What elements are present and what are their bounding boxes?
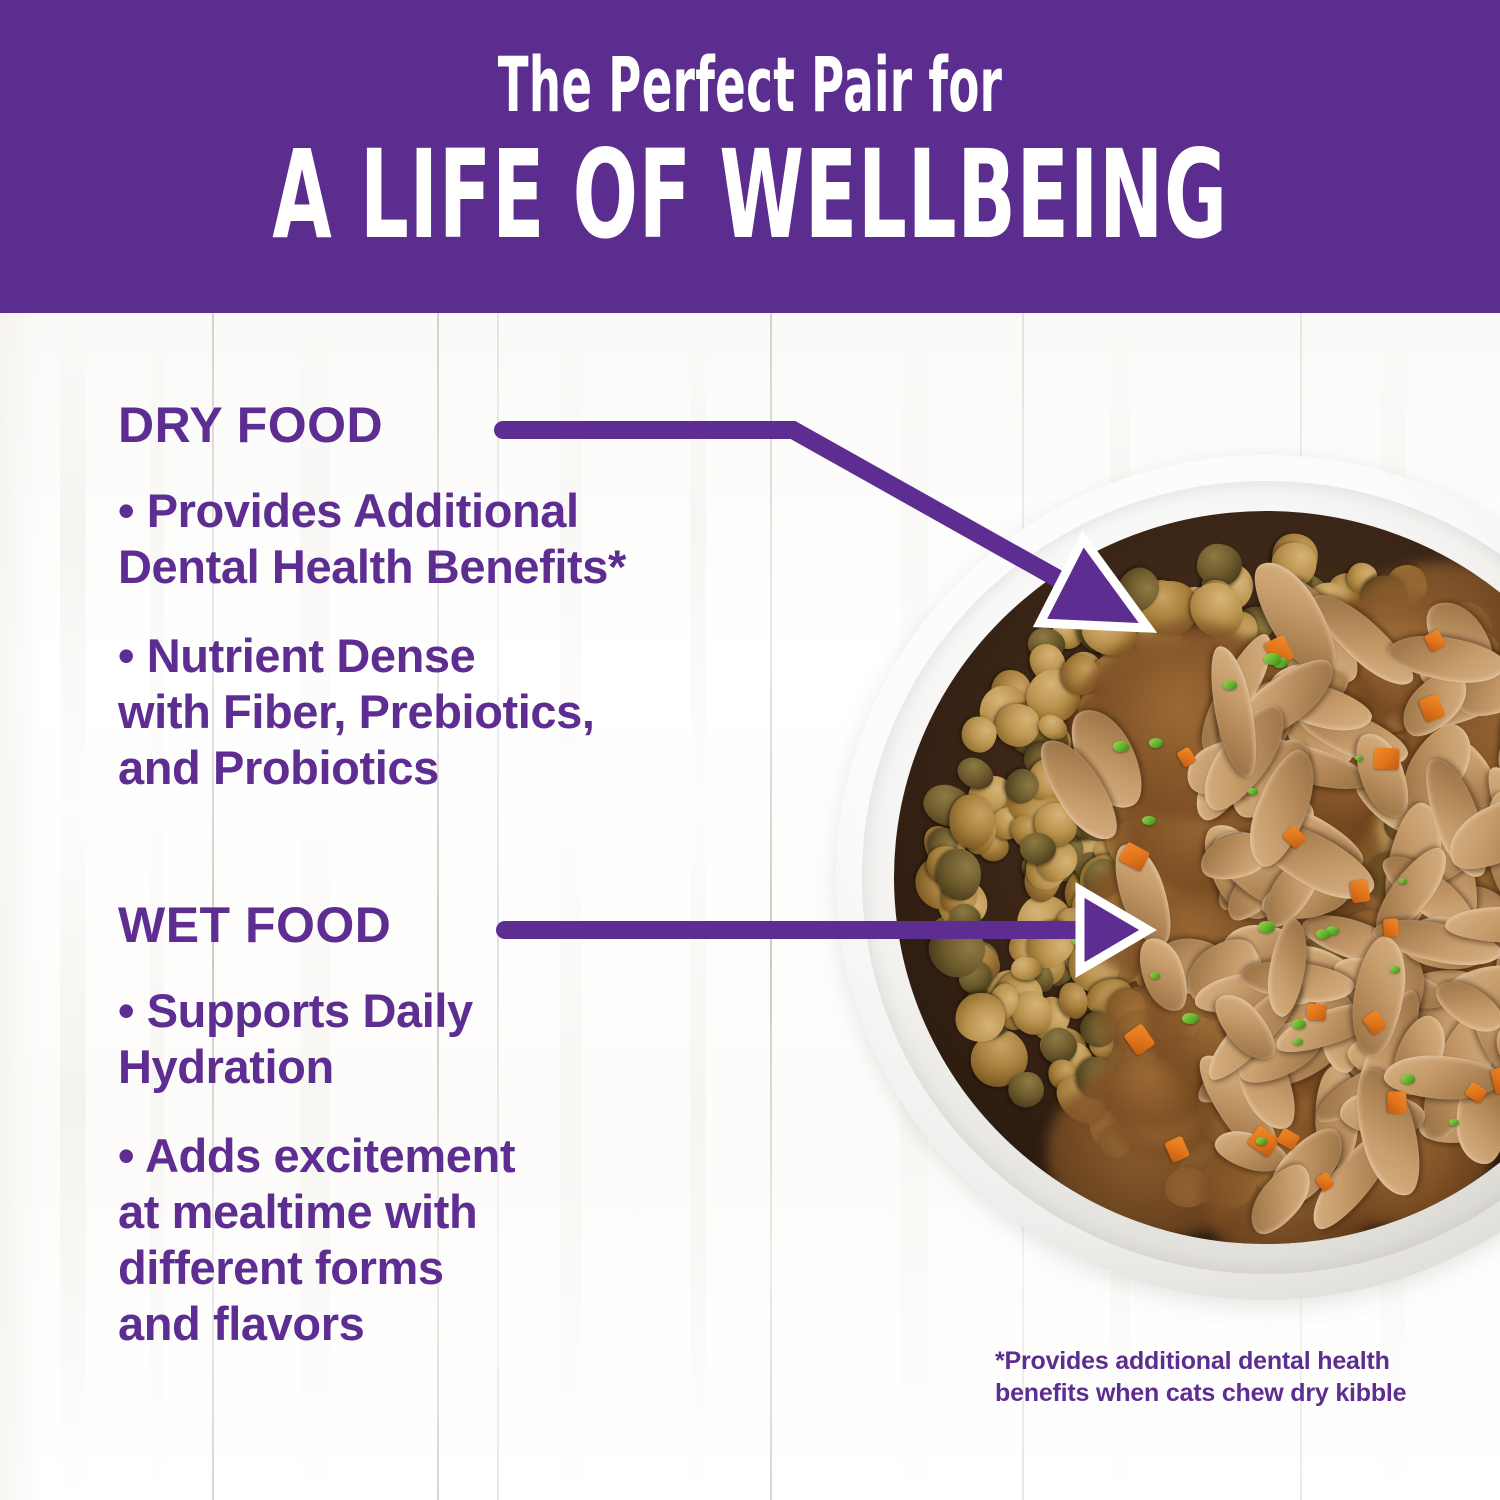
carrot-piece: [1373, 748, 1399, 770]
header-subtitle: The Perfect Pair for: [255, 42, 1245, 128]
wet-food-bullet-2: • Adds excitement at mealtime with diffe…: [118, 1128, 798, 1352]
pea-piece: [1072, 937, 1084, 945]
pea-piece: [1256, 1137, 1267, 1145]
bullet-line: at mealtime with: [118, 1184, 798, 1240]
bullet-line: and Probiotics: [118, 740, 798, 796]
footnote: *Provides additional dental health benef…: [995, 1345, 1445, 1409]
wet-food-bullet-1: • Supports Daily Hydration: [118, 983, 798, 1095]
header-band: The Perfect Pair for A LIFE OF WELLBEING: [0, 0, 1500, 313]
dry-food-title: DRY FOOD: [118, 398, 798, 452]
pea-piece: [1149, 738, 1163, 748]
pea-piece: [1292, 1019, 1306, 1029]
promo-graphic: The Perfect Pair for A LIFE OF WELLBEING: [0, 0, 1500, 1500]
kibble-piece: [949, 794, 995, 849]
pea-piece: [1182, 1013, 1199, 1025]
footnote-line: benefits when cats chew dry kibble: [995, 1377, 1445, 1409]
pea-piece: [1264, 653, 1281, 665]
carrot-piece: [1350, 879, 1371, 903]
footnote-line: *Provides additional dental health: [995, 1345, 1445, 1377]
bullet-line: with Fiber, Prebiotics,: [118, 684, 798, 740]
bullet-line: • Provides Additional: [118, 483, 798, 539]
pea-piece: [1258, 921, 1275, 933]
pea-piece: [1223, 680, 1237, 690]
header-title: A LIFE OF WELLBEING: [225, 130, 1275, 260]
wet-food-section: WET FOOD: [118, 898, 798, 952]
food-bowl-image: [836, 455, 1500, 1315]
pea-piece: [1355, 755, 1363, 761]
carrot-piece: [1383, 918, 1399, 937]
dry-food-bullet-2: • Nutrient Dense with Fiber, Prebiotics,…: [118, 628, 798, 796]
bullet-line: • Nutrient Dense: [118, 628, 798, 684]
bullet-line: and flavors: [118, 1296, 798, 1352]
pea-piece: [1390, 966, 1400, 973]
bullet-line: Dental Health Benefits*: [118, 539, 798, 595]
kibble-piece: [995, 704, 1040, 747]
wood-grain: [60, 313, 86, 1500]
carrot-piece: [1387, 1091, 1406, 1113]
bullet-line: • Adds excitement: [118, 1128, 798, 1184]
wet-food-title: WET FOOD: [118, 898, 798, 952]
dry-food-bullet-1: • Provides Additional Dental Health Bene…: [118, 483, 798, 595]
dry-food-section: DRY FOOD: [118, 398, 798, 452]
bullet-line: • Supports Daily: [118, 983, 798, 1039]
bullet-line: different forms: [118, 1240, 798, 1296]
bullet-line: Hydration: [118, 1039, 798, 1095]
carrot-piece: [1306, 1004, 1326, 1021]
